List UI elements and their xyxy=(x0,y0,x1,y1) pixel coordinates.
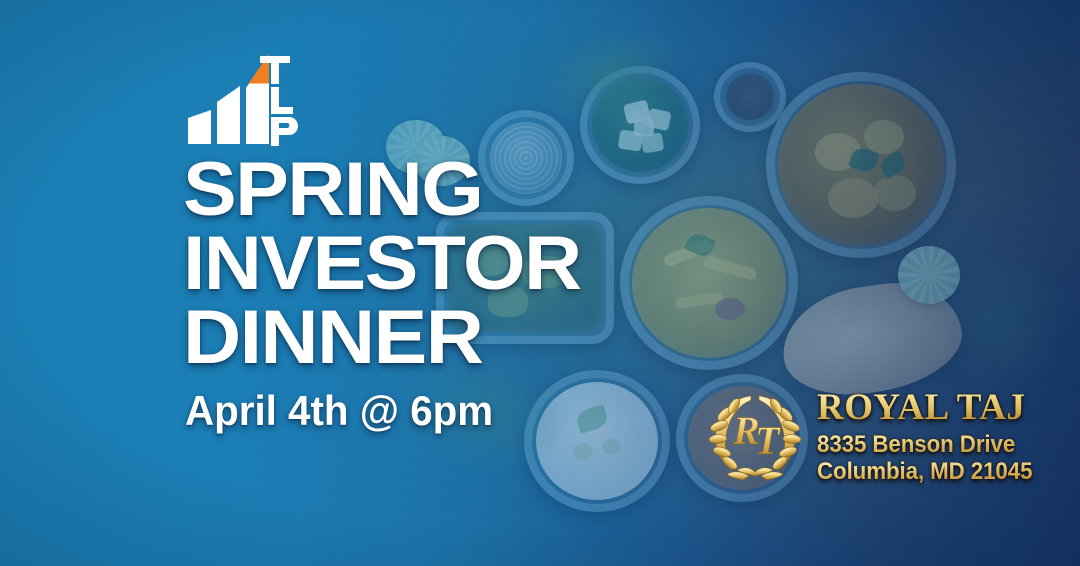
event-datetime: April 4th @ 6pm xyxy=(185,388,493,434)
tlp-letters xyxy=(258,54,302,146)
banner-content: SPRING INVESTOR DINNER April 4th @ 6pm xyxy=(0,0,1080,566)
venue-name: ROYAL TAJ xyxy=(817,389,1049,426)
svg-text:T: T xyxy=(755,418,781,463)
headline-line-3: DINNER xyxy=(183,301,861,375)
venue-logo: R T ROYAL TAJ 8335 Benson Drive Columbia… xyxy=(703,386,1049,486)
laurel-wreath-icon: R T xyxy=(703,386,807,486)
rt-monogram: R T xyxy=(732,408,781,463)
headline-line-2: INVESTOR xyxy=(183,227,861,301)
page-title: SPRING INVESTOR DINNER xyxy=(183,153,823,375)
venue-address-line1: 8335 Benson Drive xyxy=(817,431,1032,458)
headline-line-1: SPRING xyxy=(183,153,861,227)
venue-address-line2: Columbia, MD 21045 xyxy=(817,458,1032,485)
event-banner: SPRING INVESTOR DINNER April 4th @ 6pm xyxy=(0,0,1080,566)
venue-text-block: ROYAL TAJ 8335 Benson Drive Columbia, MD… xyxy=(817,387,1049,485)
logo-bar-chart xyxy=(188,54,269,144)
